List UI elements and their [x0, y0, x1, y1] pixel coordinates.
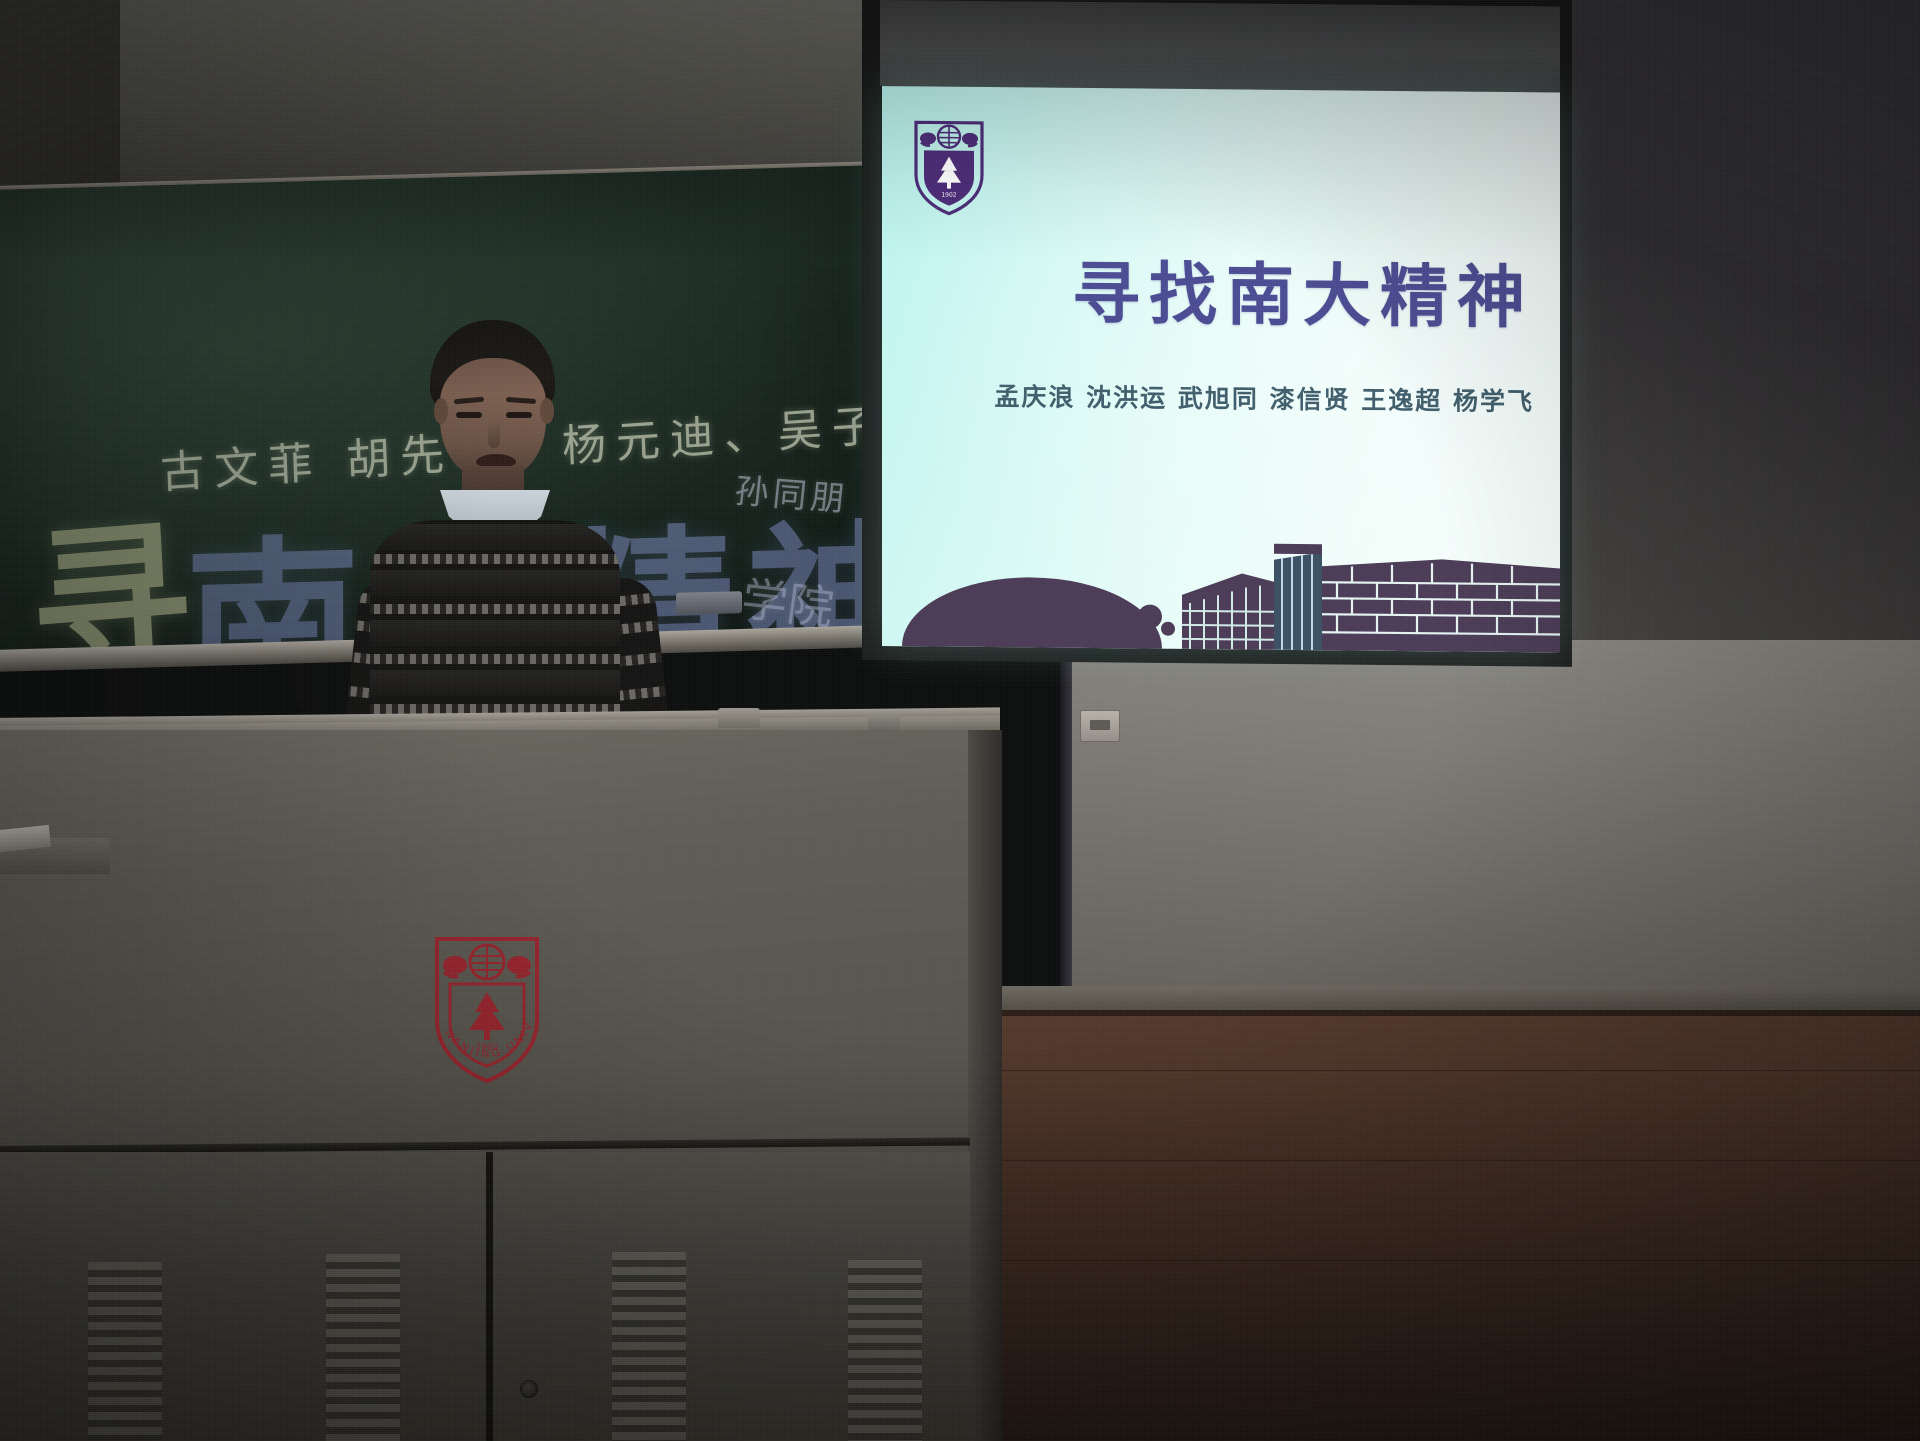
speaker-ear-left — [434, 398, 448, 424]
speaker-figure — [330, 320, 700, 750]
nanjing-university-crest-icon: 1902 NANJING UNIVERSITY — [428, 930, 546, 1086]
svg-text:NANJING UNIVERSITY: NANJING UNIVERSITY — [428, 930, 536, 1060]
lecture-hall-photo: 古文菲 胡先辅、杨元迪、吴子 孙同朋 寻 南大精神 —— 地理学院 党日活动 '… — [0, 0, 1920, 1441]
slide-authors: 孟庆浪 沈洪运 武旭同 漆信贤 王逸超 杨学飞 — [882, 376, 1534, 418]
speaker-eye-right — [506, 412, 532, 418]
projector-screen: 1902 寻找南大精神 孟庆浪 沈洪运 武旭同 漆信贤 王逸超 杨学飞 — [882, 86, 1560, 653]
speaker-ear-right — [540, 398, 554, 424]
podium-right-edge — [968, 730, 1002, 1441]
projector-screen-top-band — [880, 0, 1560, 93]
nanjing-university-logo-icon: 1902 — [910, 116, 988, 217]
floor-seam — [1000, 1010, 1920, 1016]
cabinet-vent-4 — [848, 1260, 922, 1441]
speaker-eye-left — [456, 412, 482, 418]
speaker-nose — [488, 420, 500, 448]
cabinet-vent-3 — [612, 1252, 686, 1441]
electrical-outlet[interactable] — [1080, 710, 1120, 742]
slide-title: 寻找南大精神 — [882, 236, 1534, 341]
cabinet-vent-1 — [88, 1262, 162, 1440]
podium-notch — [718, 708, 760, 728]
svg-text:1902: 1902 — [941, 192, 956, 199]
cabinet-door-gap — [486, 1152, 493, 1441]
crest-name-arc: NANJING UNIVERSITY — [428, 930, 536, 1060]
cabinet-vent-2 — [326, 1254, 400, 1441]
cabinet-door-left[interactable] — [0, 1152, 490, 1441]
podium-notch-secondary — [868, 712, 900, 730]
cabinet-lock[interactable] — [520, 1380, 538, 1398]
wood-floor — [1000, 1010, 1920, 1441]
